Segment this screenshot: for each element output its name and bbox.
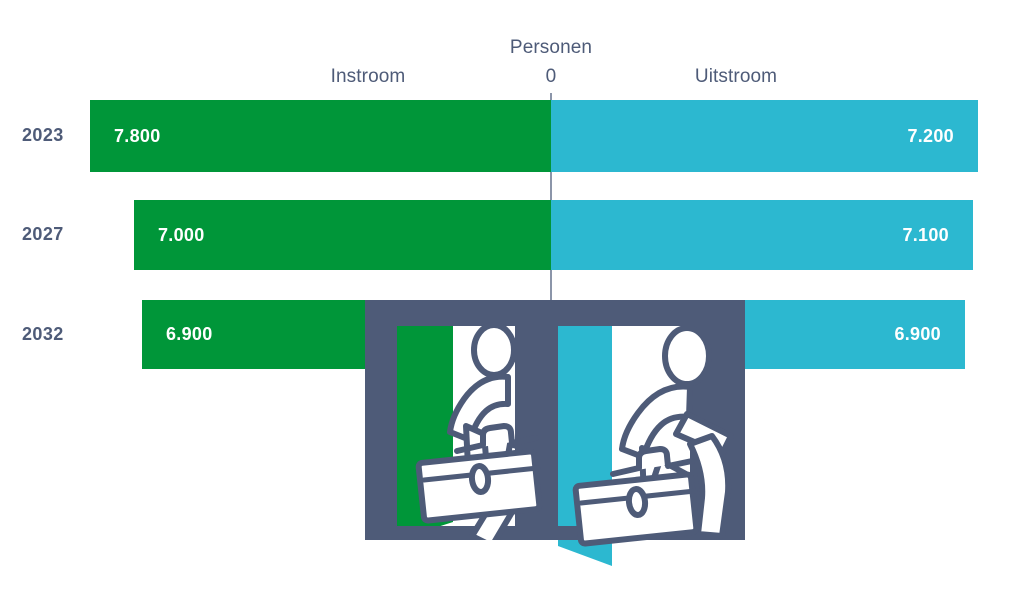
bar-value-label: 7.200 <box>907 126 954 147</box>
bar-value-label: 6.900 <box>166 324 213 345</box>
bar-value-label: 7.000 <box>158 225 205 246</box>
axis-zero-label: 0 <box>546 66 557 88</box>
bar-instroom-2027[interactable]: 7.000 <box>134 200 551 270</box>
category-label-2027: 2027 <box>22 224 64 245</box>
bar-value-label: 7.800 <box>114 126 161 147</box>
diverging-bar-chart: Personen 0 Instroom Uitstroom 2023 7.800… <box>0 0 1024 614</box>
chart-row: 2027 7.000 7.100 <box>0 200 1024 270</box>
bar-uitstroom-2027[interactable]: 7.100 <box>551 200 973 270</box>
bar-value-label: 7.100 <box>902 225 949 246</box>
bar-value-label: 6.900 <box>894 324 941 345</box>
axis-title-personen: Personen <box>510 37 592 59</box>
legend-label-instroom: Instroom <box>331 66 406 88</box>
category-label-2023: 2023 <box>22 125 64 146</box>
bar-instroom-2023[interactable]: 7.800 <box>90 100 551 172</box>
bar-uitstroom-2023[interactable]: 7.200 <box>551 100 978 172</box>
revolving-door-people-icon <box>360 294 750 579</box>
category-label-2032: 2032 <box>22 324 64 345</box>
legend-label-uitstroom: Uitstroom <box>695 66 777 88</box>
chart-row: 2023 7.800 7.200 <box>0 100 1024 172</box>
